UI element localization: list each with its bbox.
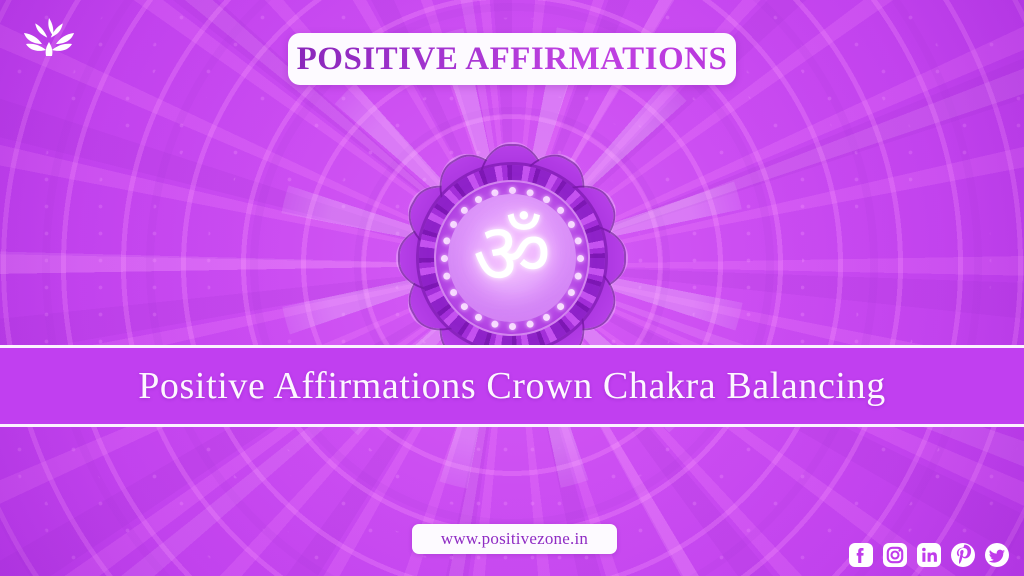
facebook-icon[interactable]: [848, 542, 874, 568]
om-symbol: ॐ: [473, 212, 551, 298]
instagram-icon[interactable]: [882, 542, 908, 568]
mandala-dot: [567, 289, 574, 296]
mandala-dot: [526, 189, 533, 196]
mandala-dot: [574, 237, 581, 244]
mandala-dot: [491, 320, 498, 327]
pinterest-icon[interactable]: [950, 542, 976, 568]
mandala-dot: [543, 313, 550, 320]
social-icon-bar: [848, 542, 1010, 568]
website-url: www.positivezone.in: [441, 529, 588, 549]
twitter-icon[interactable]: [984, 542, 1010, 568]
website-url-pill[interactable]: www.positivezone.in: [412, 524, 617, 554]
mandala-dot: [567, 221, 574, 228]
mandala-dot: [441, 255, 448, 262]
lotus-logo: [18, 14, 80, 62]
mandala-dot: [574, 272, 581, 279]
page-title: POSITIVE AFFIRMATIONS: [297, 41, 728, 78]
mandala-dot: [557, 303, 564, 310]
mandala-dot: [577, 255, 584, 262]
poster-canvas: ॐ POSITIVE AFFIRMATIONS Positive Affirma…: [0, 0, 1024, 576]
banner-title: Positive Affirmations Crown Chakra Balan…: [138, 364, 886, 408]
mandala-dot: [475, 313, 482, 320]
main-banner: Positive Affirmations Crown Chakra Balan…: [0, 345, 1024, 427]
mandala-dot: [526, 320, 533, 327]
header-title-pill: POSITIVE AFFIRMATIONS: [288, 33, 736, 85]
mandala-dot: [509, 187, 516, 194]
linkedin-icon[interactable]: [916, 542, 942, 568]
mandala-dot: [509, 323, 516, 330]
mandala-core: ॐ: [448, 194, 576, 322]
mandala-dot: [443, 272, 450, 279]
